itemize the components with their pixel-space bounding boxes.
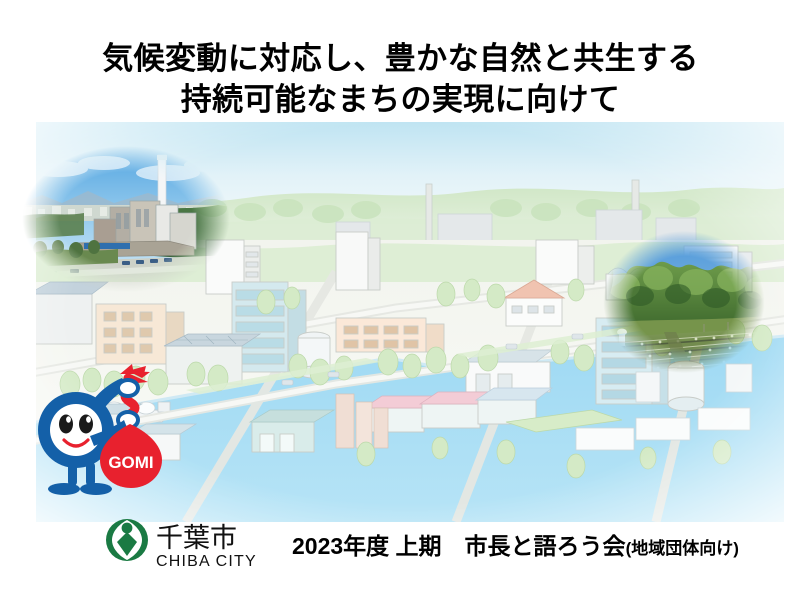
title-line-2: 持続可能なまちの実現に向けて bbox=[0, 79, 801, 120]
gomi-bag-label: GOMI bbox=[108, 453, 153, 472]
footer-caption: 2023年度 上期 市長と語ろう会 (地域団体向け) bbox=[292, 527, 739, 561]
chiba-city-emblem bbox=[106, 519, 148, 561]
chiba-city-logo: 千葉市 CHIBA CITY bbox=[100, 514, 270, 574]
chiba-city-name-en: CHIBA CITY bbox=[156, 553, 257, 570]
satoyama-nature-photo bbox=[600, 228, 768, 376]
chiba-city-name-ja: 千葉市 bbox=[156, 523, 237, 553]
footer-caption-main: 2023年度 上期 市長と語ろう会 bbox=[292, 527, 626, 561]
slide-footer: 千葉市 CHIBA CITY 2023年度 上期 市長と語ろう会 (地域団体向け… bbox=[100, 512, 780, 576]
gomi-zero-mascot: GOMI bbox=[28, 362, 170, 508]
title-line-1: 気候変動に対応し、豊かな自然と共生する bbox=[0, 38, 801, 79]
slide-canvas: GOMI 気候変動に対応し、豊かな自然と共生する 持続可能なまちの実現に向けて … bbox=[0, 0, 801, 600]
slide-title: 気候変動に対応し、豊かな自然と共生する 持続可能なまちの実現に向けて bbox=[0, 38, 801, 120]
incineration-plant-photo bbox=[18, 143, 234, 295]
footer-caption-sub: (地域団体向け) bbox=[626, 534, 739, 559]
